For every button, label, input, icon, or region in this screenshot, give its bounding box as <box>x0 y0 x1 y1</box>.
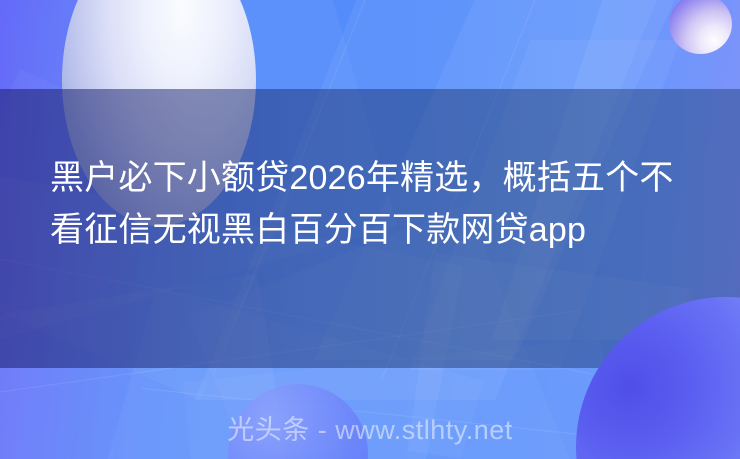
site-watermark: 光头条 - www.stlhty.net <box>0 408 740 447</box>
poster-headline: 黑户必下小额贷2026年精选，概括五个不看征信无视黑白百分百下款网贷app <box>50 152 698 256</box>
poster-canvas: 黑户必下小额贷2026年精选，概括五个不看征信无视黑白百分百下款网贷app 光头… <box>0 0 740 459</box>
